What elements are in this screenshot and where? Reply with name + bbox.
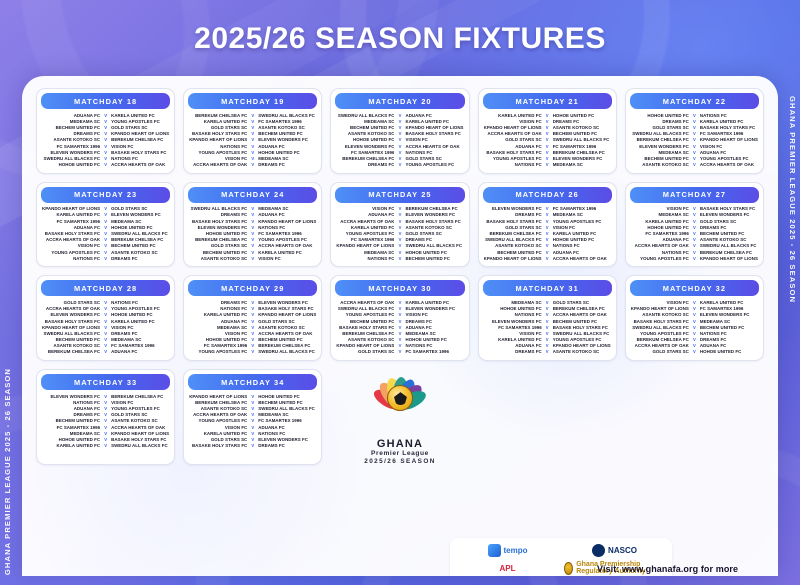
- fixture-row[interactable]: ACCRA HEARTS OF OAKVBECHEM UNITED FC: [483, 131, 612, 137]
- away-team: ASANTE KOTOKO SC: [553, 125, 611, 130]
- fixture-row[interactable]: FC SAMARTEX 1996VBEREKUM CHELSEA FC: [188, 343, 317, 349]
- fixture-row[interactable]: KARELA UNITED FCVHOHOE UNITED FC: [483, 112, 612, 118]
- fixture-row[interactable]: VISION FCVADUANA FC: [188, 424, 317, 430]
- away-team: GOLD STARS SC: [700, 219, 758, 224]
- fixture-row[interactable]: VISION FCVBEREKUM CHELSEA FC: [335, 206, 464, 212]
- fixture-row[interactable]: BECHEM UNITED FCVADUANA FC: [483, 249, 612, 255]
- versus-label: V: [395, 113, 404, 118]
- fixture-row[interactable]: FC SAMARTEX 1996VMEDEAMA SC: [41, 218, 170, 224]
- away-team: KPANDO HEART OF LIONS FC: [111, 131, 169, 136]
- home-team: ACCRA HEARTS OF OAK: [631, 343, 689, 348]
- away-team: MEDEAMA SC: [258, 206, 316, 211]
- fixture-row[interactable]: GOLD STARS SCVELEVEN WONDERS FC: [188, 436, 317, 442]
- versus-label: V: [395, 125, 404, 130]
- versus-label: V: [101, 431, 110, 436]
- fixture-row[interactable]: DREAMS FCVKARELA UNITED FC: [630, 118, 759, 124]
- versus-label: V: [101, 406, 110, 411]
- side-label-left: GHANA PREMIER LEAGUE 2025 - 26 SEASON: [3, 368, 12, 575]
- fixture-row[interactable]: HOHOE UNITED FCVDREAMS FC: [630, 224, 759, 230]
- fixture-row[interactable]: BECHEM UNITED FCVKPANDO HEART OF LIONS F…: [335, 124, 464, 130]
- fixture-row[interactable]: NATIONS FCVBASAKE HOLY STARS FC: [188, 306, 317, 312]
- fixture-row[interactable]: VISION FCVSWEDRU ALL BLACKS FC: [483, 330, 612, 336]
- home-team: ACCRA HEARTS OF OAK: [189, 162, 247, 167]
- fixture-list: ELEVEN WONDERS FCVBEREKUM CHELSEA FCNATI…: [41, 393, 170, 449]
- home-team: ACCRA HEARTS OF OAK: [42, 237, 100, 242]
- away-team: BASAKE HOLY STARS FC: [111, 150, 169, 155]
- fixture-row[interactable]: MEDEAMA SCVELEVEN WONDERS FC: [630, 212, 759, 218]
- fixture-row[interactable]: HOHOE UNITED FCVBASAKE HOLY STARS FC: [41, 436, 170, 442]
- away-team: ELEVEN WONDERS FC: [258, 300, 316, 305]
- fixture-row[interactable]: YOUNG APOSTLES FCVGOLD STARS SC: [335, 230, 464, 236]
- versus-label: V: [690, 337, 699, 342]
- fixture-row[interactable]: KPANDO HEART OF LIONS FCVACCRA HEARTS OF…: [483, 255, 612, 261]
- fixture-row[interactable]: ACCRA HEARTS OF OAKVKARELA UNITED FC: [335, 299, 464, 305]
- away-team: HOHOE UNITED FC: [553, 113, 611, 118]
- fixture-row[interactable]: GOLD STARS SCVSWEDRU ALL BLACKS FC: [483, 137, 612, 143]
- fixture-row[interactable]: BASAKE HOLY STARS FCVBECHEM UNITED FC: [188, 131, 317, 137]
- home-team: VISION FC: [189, 156, 247, 161]
- fixture-row[interactable]: YOUNG APOSTLES FCVASANTE KOTOKO SC: [41, 249, 170, 255]
- home-team: BEREKUM CHELSEA FC: [631, 137, 689, 142]
- home-team: GOLD STARS SC: [189, 437, 247, 442]
- home-team: KARELA UNITED FC: [42, 212, 100, 217]
- fixture-row[interactable]: MEDEAMA SCVADUANA FC: [630, 149, 759, 155]
- fixture-row[interactable]: SWEDRU ALL BLACKS FCVNATIONS FC: [41, 155, 170, 161]
- fixture-row[interactable]: MEDEAMA SCVKARELA UNITED FC: [335, 118, 464, 124]
- fixture-row[interactable]: ACCRA HEARTS OF OAKVBEREKUM CHELSEA FC: [41, 237, 170, 243]
- away-team: KPANDO HEART OF LIONS FC: [553, 343, 611, 348]
- away-team: DREAMS FC: [553, 119, 611, 124]
- fixture-row[interactable]: ELEVEN WONDERS FCVNATIONS FC: [188, 224, 317, 230]
- home-team: ASANTE KOTOKO SC: [484, 243, 542, 248]
- versus-label: V: [543, 300, 552, 305]
- fixture-row[interactable]: VISION FCVACCRA HEARTS OF OAK: [188, 330, 317, 336]
- fixture-row[interactable]: VISION FCVBASAKE HOLY STARS FC: [630, 206, 759, 212]
- home-team: ASANTE KOTOKO SC: [42, 137, 100, 142]
- fixture-row[interactable]: ADUANA FCVFC SAMARTEX 1996: [483, 143, 612, 149]
- home-team: ASANTE KOTOKO SC: [336, 131, 394, 136]
- brand-line-1: GHANA: [364, 438, 435, 450]
- versus-label: V: [543, 212, 552, 217]
- fixture-list: VISION FCVKARELA UNITED FCKPANDO HEART O…: [630, 299, 759, 355]
- away-team: MEDEAMA SC: [405, 331, 463, 336]
- fixture-row[interactable]: KPANDO HEART OF LIONS FCVHOHOE UNITED FC: [188, 393, 317, 399]
- fixture-row[interactable]: BEREKUM CHELSEA FCVYOUNG APOSTLES FC: [188, 237, 317, 243]
- fixture-row[interactable]: MEDEAMA SCVGOLD STARS SC: [483, 299, 612, 305]
- fixture-row[interactable]: NATIONS FCVBEREKUM CHELSEA FC: [630, 249, 759, 255]
- fixture-row[interactable]: BEREKUM CHELSEA FCVBECHEM UNITED FC: [188, 399, 317, 405]
- versus-label: V: [101, 156, 110, 161]
- fixture-row[interactable]: ADUANA FCVHOHOE UNITED FC: [41, 224, 170, 230]
- fixture-row[interactable]: HOHOE UNITED FCVNATIONS FC: [630, 112, 759, 118]
- fixture-row[interactable]: ASANTE KOTOKO SCVBEREKUM CHELSEA FC: [41, 137, 170, 143]
- fixture-row[interactable]: ADUANA FCVGOLD STARS SC: [188, 318, 317, 324]
- fixture-row[interactable]: ACCRA HEARTS OF OAKVMEDEAMA SC: [188, 412, 317, 418]
- home-team: VISION FC: [484, 331, 542, 336]
- fixture-row[interactable]: ACCRA HEARTS OF OAKVDREAMS FC: [188, 162, 317, 168]
- sponsor-label: NASCO: [608, 546, 637, 555]
- away-team: VISION FC: [111, 325, 169, 330]
- matchday-card[interactable]: MATCHDAY 28GOLD STARS SCVNATIONS FCACCRA…: [36, 275, 175, 361]
- fixture-row[interactable]: VISION FCVKARELA UNITED FC: [630, 299, 759, 305]
- versus-label: V: [248, 425, 257, 430]
- fixture-row[interactable]: MEDEAMA SCVASANTE KOTOKO SC: [188, 324, 317, 330]
- versus-label: V: [395, 237, 404, 242]
- fixture-row[interactable]: BASAKE HOLY STARS FCVBEREKUM CHELSEA FC: [483, 149, 612, 155]
- versus-label: V: [690, 237, 699, 242]
- away-team: FC SAMARTEX 1996: [553, 206, 611, 211]
- matchday-card[interactable]: MATCHDAY 24SWEDRU ALL BLACKS FCVMEDEAMA …: [183, 182, 322, 268]
- home-team: BECHEM UNITED FC: [336, 125, 394, 130]
- fixture-row[interactable]: SWEDRU ALL BLACKS FCVMEDEAMA SC: [188, 206, 317, 212]
- fixture-row[interactable]: KPANDO HEART OF LIONS FCVFC SAMARTEX 199…: [630, 306, 759, 312]
- fixture-row[interactable]: NATIONS FCVBECHEM UNITED FC: [335, 255, 464, 261]
- fixture-row[interactable]: KARELA UNITED FCVKPANDO HEART OF LIONS F…: [188, 312, 317, 318]
- fixture-row[interactable]: YOUNG APOSTLES FCVKPANDO HEART OF LIONS …: [630, 255, 759, 261]
- fixture-row[interactable]: ASANTE KOTOKO SCVVISION FC: [188, 255, 317, 261]
- fixture-row[interactable]: ELEVEN WONDERS FCVHOHOE UNITED FC: [41, 312, 170, 318]
- away-team: ELEVEN WONDERS FC: [258, 437, 316, 442]
- away-team: BEREKUM CHELSEA FC: [553, 306, 611, 311]
- versus-label: V: [248, 331, 257, 336]
- fixture-row[interactable]: GOLD STARS SCVACCRA HEARTS OF OAK: [188, 243, 317, 249]
- fixture-row[interactable]: SWEDRU ALL BLACKS FCVELEVEN WONDERS FC: [335, 306, 464, 312]
- away-team: YOUNG APOSTLES FC: [111, 406, 169, 411]
- fixture-row[interactable]: YOUNG APOSTLES FCVVISION FC: [335, 312, 464, 318]
- home-team: BASAKE HOLY STARS FC: [189, 219, 247, 224]
- away-team: YOUNG APOSTLES FC: [111, 119, 169, 124]
- fixture-row[interactable]: FC SAMARTEX 1996VNATIONS FC: [335, 149, 464, 155]
- versus-label: V: [395, 219, 404, 224]
- matchday-title: MATCHDAY 34: [188, 374, 317, 390]
- away-team: KPANDO HEART OF LIONS FC: [258, 312, 316, 317]
- fixture-row[interactable]: DREAMS FCVELEVEN WONDERS FC: [188, 299, 317, 305]
- away-team: VISION FC: [700, 144, 758, 149]
- fixture-row[interactable]: BECHEM UNITED FCVGOLD STARS SC: [41, 124, 170, 130]
- away-team: BEREKUM CHELSEA FC: [111, 137, 169, 142]
- fixture-row[interactable]: YOUNG APOSTLES FCVNATIONS FC: [630, 330, 759, 336]
- fixture-row[interactable]: ACCRA HEARTS OF OAKVSWEDRU ALL BLACKS FC: [630, 243, 759, 249]
- fixture-row[interactable]: GOLD STARS SCVFC SAMARTEX 1996: [335, 349, 464, 355]
- matchday-title: MATCHDAY 20: [335, 93, 464, 109]
- fixture-row[interactable]: DREAMS FCVADUANA FC: [188, 212, 317, 218]
- league-branding: GHANAPremier League2025/26 SEASON: [330, 369, 469, 465]
- matchday-card[interactable]: MATCHDAY 32VISION FCVKARELA UNITED FCKPA…: [625, 275, 764, 361]
- matchday-card[interactable]: MATCHDAY 18ADUANA FCVKARELA UNITED FCMED…: [36, 88, 175, 174]
- fixture-row[interactable]: ELEVEN WONDERS FCVBASAKE HOLY STARS FC: [41, 149, 170, 155]
- matchday-card[interactable]: MATCHDAY 34KPANDO HEART OF LIONS FCVHOHO…: [183, 369, 322, 465]
- fixture-row[interactable]: BECHEM UNITED FCVKARELA UNITED FC: [188, 249, 317, 255]
- away-team: SWEDRU ALL BLACKS FC: [258, 349, 316, 354]
- home-team: BASAKE HOLY STARS FC: [189, 131, 247, 136]
- fixture-row[interactable]: ADUANA FCVKPANDO HEART OF LIONS FC: [483, 343, 612, 349]
- fixture-row[interactable]: MEDEAMA SCVKPANDO HEART OF LIONS FC: [41, 430, 170, 436]
- fixture-row[interactable]: NATIONS FCVACCRA HEARTS OF OAK: [483, 312, 612, 318]
- fixture-row[interactable]: ACCRA HEARTS OF OAKVADUANA FC: [630, 343, 759, 349]
- away-team: HOHOE UNITED FC: [405, 250, 463, 255]
- fixture-row[interactable]: ASANTE KOTOKO SCVNATIONS FC: [483, 243, 612, 249]
- fixture-row[interactable]: NATIONS FCVMEDEAMA SC: [483, 162, 612, 168]
- fixture-row[interactable]: HOHOE UNITED FCVVISION FC: [335, 137, 464, 143]
- away-team: NATIONS FC: [700, 113, 758, 118]
- away-team: HOHOE UNITED FC: [258, 150, 316, 155]
- matchday-title: MATCHDAY 25: [335, 187, 464, 203]
- away-team: BASAKE HOLY STARS FC: [258, 306, 316, 311]
- versus-label: V: [690, 349, 699, 354]
- versus-label: V: [248, 337, 257, 342]
- fixture-row[interactable]: ADUANA FCVASANTE KOTOKO SC: [630, 237, 759, 243]
- matchday-card[interactable]: MATCHDAY 22HOHOE UNITED FCVNATIONS FCDRE…: [625, 88, 764, 174]
- matchday-card[interactable]: MATCHDAY 31MEDEAMA SCVGOLD STARS SCHOHOE…: [478, 275, 617, 361]
- fixture-row[interactable]: ELEVEN WONDERS FCVFC SAMARTEX 1996: [483, 206, 612, 212]
- home-team: DREAMS FC: [42, 412, 100, 417]
- fixture-row[interactable]: DREAMS FCVASANTE KOTOKO SC: [483, 349, 612, 355]
- fixture-row[interactable]: HOHOE UNITED FCVBEREKUM CHELSEA FC: [483, 306, 612, 312]
- fixture-row[interactable]: FC SAMARTEX 1996VBECHEM UNITED FC: [630, 230, 759, 236]
- fixture-row[interactable]: BASAKE HOLY STARS FCVMEDEAMA SC: [630, 318, 759, 324]
- sponsor-logo-apl[interactable]: APL: [500, 564, 516, 573]
- fixture-row[interactable]: SWEDRU ALL BLACKS FCVFC SAMARTEX 1996: [630, 131, 759, 137]
- versus-label: V: [101, 319, 110, 324]
- fixture-row[interactable]: DREAMS FCVMEDEAMA SC: [483, 212, 612, 218]
- fixture-row[interactable]: YOUNG APOSTLES FCVELEVEN WONDERS FC: [483, 155, 612, 161]
- fixture-row[interactable]: KARELA UNITED FCVYOUNG APOSTLES FC: [483, 337, 612, 343]
- home-team: BEREKUM CHELSEA FC: [631, 337, 689, 342]
- versus-label: V: [101, 137, 110, 142]
- fixture-row[interactable]: BEREKUM CHELSEA FCVSWEDRU ALL BLACKS FC: [188, 112, 317, 118]
- fixture-row[interactable]: FC SAMARTEX 1996VBASAKE HOLY STARS FC: [483, 324, 612, 330]
- away-team: GOLD STARS SC: [553, 300, 611, 305]
- fixture-row[interactable]: KPANDO HEART OF LIONS FCVASANTE KOTOKO S…: [483, 124, 612, 130]
- matchday-card[interactable]: MATCHDAY 27VISION FCVBASAKE HOLY STARS F…: [625, 182, 764, 268]
- home-team: NATIONS FC: [484, 312, 542, 317]
- fixture-list: MEDEAMA SCVGOLD STARS SCHOHOE UNITED FCV…: [483, 299, 612, 355]
- home-team: NATIONS FC: [189, 306, 247, 311]
- fixture-row[interactable]: KPANDO HEART OF LIONS FCVSWEDRU ALL BLAC…: [335, 243, 464, 249]
- fixture-row[interactable]: VISION FCVBECHEM UNITED FC: [41, 243, 170, 249]
- away-team: NATIONS FC: [111, 156, 169, 161]
- home-team: YOUNG APOSTLES FC: [42, 250, 100, 255]
- versus-label: V: [248, 256, 257, 261]
- fixture-row[interactable]: ELEVEN WONDERS FCVVISION FC: [630, 143, 759, 149]
- home-team: NATIONS FC: [42, 256, 100, 261]
- home-team: DREAMS FC: [189, 212, 247, 217]
- away-team: ASANTE KOTOKO SC: [111, 418, 169, 423]
- fixture-row[interactable]: BEREKUM CHELSEA FCVMEDEAMA SC: [335, 330, 464, 336]
- sponsor-logo-tempo[interactable]: tempo: [488, 544, 528, 557]
- fixture-row[interactable]: ADUANA FCVYOUNG APOSTLES FC: [41, 405, 170, 411]
- fixture-row[interactable]: GOLD STARS SCVVISION FC: [483, 224, 612, 230]
- fixture-row[interactable]: BASAKE HOLY STARS FCVADUANA FC: [335, 324, 464, 330]
- home-team: HOHOE UNITED FC: [631, 113, 689, 118]
- fixture-row[interactable]: KARELA UNITED FCVFC SAMARTEX 1996: [188, 118, 317, 124]
- sponsor-logo-nasco[interactable]: NASCO: [592, 544, 637, 557]
- fixture-row[interactable]: BEREKUM CHELSEA FCVGOLD STARS SC: [335, 155, 464, 161]
- fixture-row[interactable]: BECHEM UNITED FCVDREAMS FC: [335, 318, 464, 324]
- home-team: DREAMS FC: [631, 119, 689, 124]
- away-team: ELEVEN WONDERS FC: [553, 156, 611, 161]
- fixture-row[interactable]: BASAKE HOLY STARS FCVYOUNG APOSTLES FC: [483, 218, 612, 224]
- away-team: NATIONS FC: [700, 331, 758, 336]
- fixture-row[interactable]: ACCRA HEARTS OF OAKVYOUNG APOSTLES FC: [41, 306, 170, 312]
- fixture-row[interactable]: SWEDRU ALL BLACKS FCVDREAMS FC: [41, 330, 170, 336]
- away-team: SWEDRU ALL BLACKS FC: [700, 243, 758, 248]
- home-team: KARELA UNITED FC: [484, 337, 542, 342]
- home-team: ASANTE KOTOKO SC: [189, 256, 247, 261]
- fixture-row[interactable]: HOHOE UNITED FCVFC SAMARTEX 1996: [188, 230, 317, 236]
- fixture-row[interactable]: YOUNG APOSTLES FCVSWEDRU ALL BLACKS FC: [188, 349, 317, 355]
- versus-label: V: [248, 431, 257, 436]
- versus-label: V: [690, 312, 699, 317]
- matchday-card[interactable]: MATCHDAY 21KARELA UNITED FCVHOHOE UNITED…: [478, 88, 617, 174]
- versus-label: V: [543, 225, 552, 230]
- fixture-row[interactable]: KARELA UNITED FCVGOLD STARS SC: [630, 218, 759, 224]
- fixture-row[interactable]: NATIONS FCVADUANA FC: [188, 143, 317, 149]
- home-team: ADUANA FC: [484, 144, 542, 149]
- fixture-row[interactable]: SWEDRU ALL BLACKS FCVADUANA FC: [335, 112, 464, 118]
- fixture-row[interactable]: ASANTE KOTOKO SCVACCRA HEARTS OF OAK: [630, 162, 759, 168]
- versus-label: V: [248, 406, 257, 411]
- fixture-row[interactable]: SWEDRU ALL BLACKS FCVHOHOE UNITED FC: [483, 237, 612, 243]
- fixture-row[interactable]: MEDEAMA SCVHOHOE UNITED FC: [335, 249, 464, 255]
- fixture-row[interactable]: FC SAMARTEX 1996VDREAMS FC: [335, 237, 464, 243]
- fixture-row[interactable]: VISION FCVDREAMS FC: [483, 118, 612, 124]
- away-team: BEREKUM CHELSEA FC: [111, 394, 169, 399]
- fixture-row[interactable]: BASAKE HOLY STARS FCVKARELA UNITED FC: [41, 318, 170, 324]
- versus-label: V: [248, 243, 257, 248]
- versus-label: V: [690, 225, 699, 230]
- matchday-card[interactable]: MATCHDAY 30ACCRA HEARTS OF OAKVKARELA UN…: [330, 275, 469, 361]
- fixture-row[interactable]: NATIONS FCVDREAMS FC: [41, 255, 170, 261]
- matchday-card[interactable]: MATCHDAY 26ELEVEN WONDERS FCVFC SAMARTEX…: [478, 182, 617, 268]
- home-team: SWEDRU ALL BLACKS FC: [42, 331, 100, 336]
- away-team: HOHOE UNITED FC: [111, 225, 169, 230]
- fixture-row[interactable]: KARELA UNITED FCVELEVEN WONDERS FC: [41, 212, 170, 218]
- home-team: BASAKE HOLY STARS FC: [336, 325, 394, 330]
- versus-label: V: [248, 150, 257, 155]
- fixture-row[interactable]: BASAKE HOLY STARS FCVKPANDO HEART OF LIO…: [188, 218, 317, 224]
- versus-label: V: [395, 343, 404, 348]
- away-team: ACCRA HEARTS OF OAK: [405, 144, 463, 149]
- fixture-row[interactable]: KARELA UNITED FCVASANTE KOTOKO SC: [335, 224, 464, 230]
- fixture-row[interactable]: KPANDO HEART OF LIONS FCVGOLD STARS SC: [41, 206, 170, 212]
- fixture-row[interactable]: BASAKE HOLY STARS FCVDREAMS FC: [188, 443, 317, 449]
- fixture-row[interactable]: BECHEM UNITED FCVMEDEAMA SC: [41, 337, 170, 343]
- fixture-row[interactable]: ASANTE KOTOKO SCVBASAKE HOLY STARS FC: [335, 131, 464, 137]
- fixture-row[interactable]: KPANDO HEART OF LIONS FCVNATIONS FC: [335, 343, 464, 349]
- versus-label: V: [395, 131, 404, 136]
- fixture-row[interactable]: ASANTE KOTOKO SCVHOHOE UNITED FC: [335, 337, 464, 343]
- fixture-row[interactable]: GOLD STARS SCVNATIONS FC: [41, 299, 170, 305]
- fixture-row[interactable]: HOHOE UNITED FCVACCRA HEARTS OF OAK: [41, 162, 170, 168]
- matchday-card[interactable]: MATCHDAY 20SWEDRU ALL BLACKS FCVADUANA F…: [330, 88, 469, 174]
- fixture-row[interactable]: GOLD STARS SCVBASAKE HOLY STARS FC: [630, 124, 759, 130]
- versus-label: V: [395, 250, 404, 255]
- matchday-card[interactable]: MATCHDAY 19BEREKUM CHELSEA FCVSWEDRU ALL…: [183, 88, 322, 174]
- fixture-row[interactable]: ELEVEN WONDERS FCVBEREKUM CHELSEA FC: [41, 393, 170, 399]
- fixture-row[interactable]: KPANDO HEART OF LIONS FCVELEVEN WONDERS …: [188, 137, 317, 143]
- fixture-row[interactable]: FC SAMARTEX 1996VACCRA HEARTS OF OAK: [41, 424, 170, 430]
- fixture-row[interactable]: GOLD STARS SCVASANTE KOTOKO SC: [188, 124, 317, 130]
- fixture-row[interactable]: FC SAMARTEX 1996VVISION FC: [41, 143, 170, 149]
- fixture-row[interactable]: ELEVEN WONDERS FCVACCRA HEARTS OF OAK: [335, 143, 464, 149]
- matchday-grid: MATCHDAY 18ADUANA FCVKARELA UNITED FCMED…: [22, 76, 778, 361]
- home-team: HOHOE UNITED FC: [336, 137, 394, 142]
- fixture-row[interactable]: DREAMS FCVYOUNG APOSTLES FC: [335, 162, 464, 168]
- away-team: ACCRA HEARTS OF OAK: [111, 425, 169, 430]
- versus-label: V: [101, 400, 110, 405]
- matchday-card[interactable]: MATCHDAY 29DREAMS FCVELEVEN WONDERS FCNA…: [183, 275, 322, 361]
- versus-label: V: [395, 256, 404, 261]
- away-team: YOUNG APOSTLES FC: [553, 219, 611, 224]
- home-team: ADUANA FC: [189, 319, 247, 324]
- fixture-row[interactable]: YOUNG APOSTLES FCVHOHOE UNITED FC: [188, 149, 317, 155]
- fixture-row[interactable]: BECHEM UNITED FCVYOUNG APOSTLES FC: [630, 155, 759, 161]
- fixture-row[interactable]: ADUANA FCVKARELA UNITED FC: [41, 112, 170, 118]
- fixture-row[interactable]: ADUANA FCVELEVEN WONDERS FC: [335, 212, 464, 218]
- home-team: BECHEM UNITED FC: [336, 319, 394, 324]
- versus-label: V: [248, 131, 257, 136]
- fixture-row[interactable]: KARELA UNITED FCVNATIONS FC: [188, 430, 317, 436]
- home-team: ACCRA HEARTS OF OAK: [336, 219, 394, 224]
- away-team: ELEVEN WONDERS FC: [111, 212, 169, 217]
- away-team: ASANTE KOTOKO SC: [258, 125, 316, 130]
- versus-label: V: [248, 113, 257, 118]
- fixture-row[interactable]: ELEVEN WONDERS FCVBECHEM UNITED FC: [483, 318, 612, 324]
- away-team: NATIONS FC: [405, 150, 463, 155]
- fixture-row[interactable]: MEDEAMA SCVYOUNG APOSTLES FC: [41, 118, 170, 124]
- fixture-row[interactable]: KPANDO HEART OF LIONS FCVVISION FC: [41, 324, 170, 330]
- versus-label: V: [101, 300, 110, 305]
- fixture-row[interactable]: VISION FCVMEDEAMA SC: [188, 155, 317, 161]
- fixture-row[interactable]: BEREKUM CHELSEA FCVADUANA FC: [41, 349, 170, 355]
- fixture-row[interactable]: DREAMS FCVGOLD STARS SC: [41, 412, 170, 418]
- fixture-row[interactable]: ACCRA HEARTS OF OAKVBASAKE HOLY STARS FC: [335, 218, 464, 224]
- fixture-row[interactable]: SWEDRU ALL BLACKS FCVBECHEM UNITED FC: [630, 324, 759, 330]
- away-team: BEREKUM CHELSEA FC: [553, 150, 611, 155]
- versus-label: V: [395, 306, 404, 311]
- home-team: FC SAMARTEX 1996: [336, 150, 394, 155]
- fixture-row[interactable]: KARELA UNITED FCVSWEDRU ALL BLACKS FC: [41, 443, 170, 449]
- fixture-row[interactable]: BASAKE HOLY STARS FCVSWEDRU ALL BLACKS F…: [41, 230, 170, 236]
- matchday-card[interactable]: MATCHDAY 23KPANDO HEART OF LIONS FCVGOLD…: [36, 182, 175, 268]
- fixture-row[interactable]: DREAMS FCVKPANDO HEART OF LIONS FC: [41, 131, 170, 137]
- versus-label: V: [395, 137, 404, 142]
- fixture-row[interactable]: ASANTE KOTOKO SCVELEVEN WONDERS FC: [630, 312, 759, 318]
- versus-label: V: [543, 144, 552, 149]
- fixture-row[interactable]: BEREKUM CHELSEA FCVKPANDO HEART OF LIONS…: [630, 137, 759, 143]
- home-team: SWEDRU ALL BLACKS FC: [631, 131, 689, 136]
- fixture-row[interactable]: NATIONS FCVVISION FC: [41, 399, 170, 405]
- fixture-row[interactable]: ASANTE KOTOKO SCVFC SAMARTEX 1996: [41, 343, 170, 349]
- fixture-list: SWEDRU ALL BLACKS FCVMEDEAMA SCDREAMS FC…: [188, 206, 317, 262]
- fixture-row[interactable]: GOLD STARS SCVHOHOE UNITED FC: [630, 349, 759, 355]
- matchday-card[interactable]: MATCHDAY 33ELEVEN WONDERS FCVBEREKUM CHE…: [36, 369, 175, 465]
- fixture-row[interactable]: HOHOE UNITED FCVBECHEM UNITED FC: [188, 337, 317, 343]
- fixture-row[interactable]: BECHEM UNITED FCVASANTE KOTOKO SC: [41, 418, 170, 424]
- versus-label: V: [248, 343, 257, 348]
- matchday-card[interactable]: MATCHDAY 25VISION FCVBEREKUM CHELSEA FCA…: [330, 182, 469, 268]
- home-team: KARELA UNITED FC: [189, 119, 247, 124]
- away-team: ADUANA FC: [111, 349, 169, 354]
- away-team: VISION FC: [111, 144, 169, 149]
- fixture-row[interactable]: BEREKUM CHELSEA FCVDREAMS FC: [630, 337, 759, 343]
- away-team: ASANTE KOTOKO SC: [405, 225, 463, 230]
- fixture-row[interactable]: BEREKUM CHELSEA FCVKARELA UNITED FC: [483, 230, 612, 236]
- fixture-row[interactable]: YOUNG APOSTLES FCVFC SAMARTEX 1996: [188, 418, 317, 424]
- fixture-row[interactable]: ASANTE KOTOKO SCVSWEDRU ALL BLACKS FC: [188, 405, 317, 411]
- versus-label: V: [690, 150, 699, 155]
